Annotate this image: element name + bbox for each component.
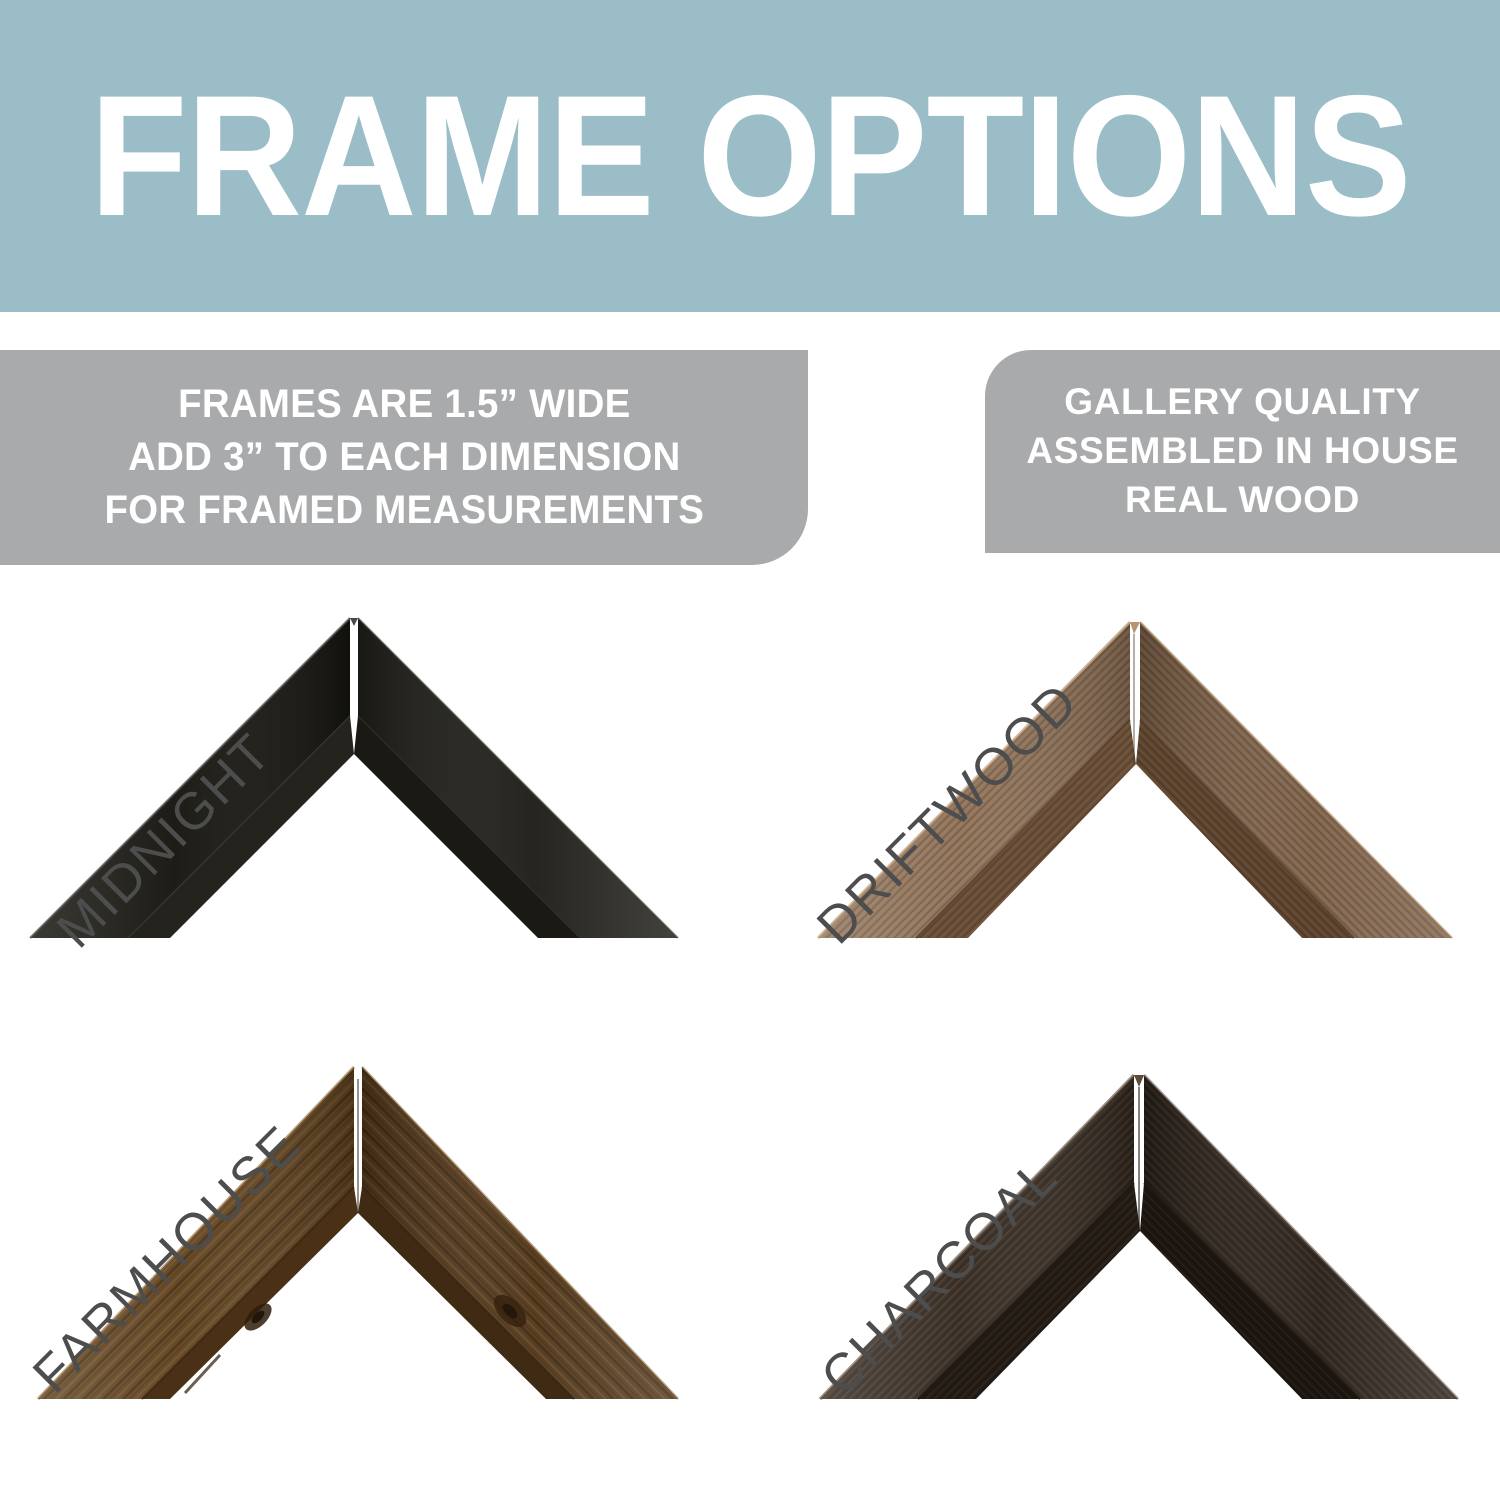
page-title: FRAME OPTIONS: [90, 70, 1411, 242]
header-banner: FRAME OPTIONS: [0, 0, 1500, 312]
driftwood-apex-chamfer: [1130, 622, 1140, 634]
info-left-line-2: ADD 3” TO EACH DIMENSION: [104, 431, 704, 484]
info-box-measurements: FRAMES ARE 1.5” WIDE ADD 3” TO EACH DIME…: [0, 350, 808, 565]
info-box-measurements-text: FRAMES ARE 1.5” WIDE ADD 3” TO EACH DIME…: [104, 378, 704, 538]
frame-sample-driftwood[interactable]: DRIFTWOOD: [790, 600, 1500, 960]
midnight-apex-highlight: [350, 618, 358, 626]
info-right-line-2: ASSEMBLED IN HOUSE: [1026, 427, 1458, 476]
frame-sample-farmhouse[interactable]: FARMHOUSE: [10, 1055, 730, 1420]
info-box-quality: GALLERY QUALITY ASSEMBLED IN HOUSE REAL …: [985, 350, 1500, 553]
info-box-quality-text: GALLERY QUALITY ASSEMBLED IN HOUSE REAL …: [1026, 378, 1458, 524]
info-right-line-3: REAL WOOD: [1026, 476, 1458, 525]
info-left-line-1: FRAMES ARE 1.5” WIDE: [104, 378, 704, 431]
info-right-line-1: GALLERY QUALITY: [1026, 378, 1458, 427]
frame-sample-charcoal[interactable]: CHARCOAL: [790, 1055, 1500, 1420]
info-left-line-3: FOR FRAMED MEASUREMENTS: [104, 484, 704, 537]
frame-sample-midnight[interactable]: MIDNIGHT: [10, 600, 730, 960]
charcoal-apex-chamfer: [1134, 1075, 1144, 1087]
